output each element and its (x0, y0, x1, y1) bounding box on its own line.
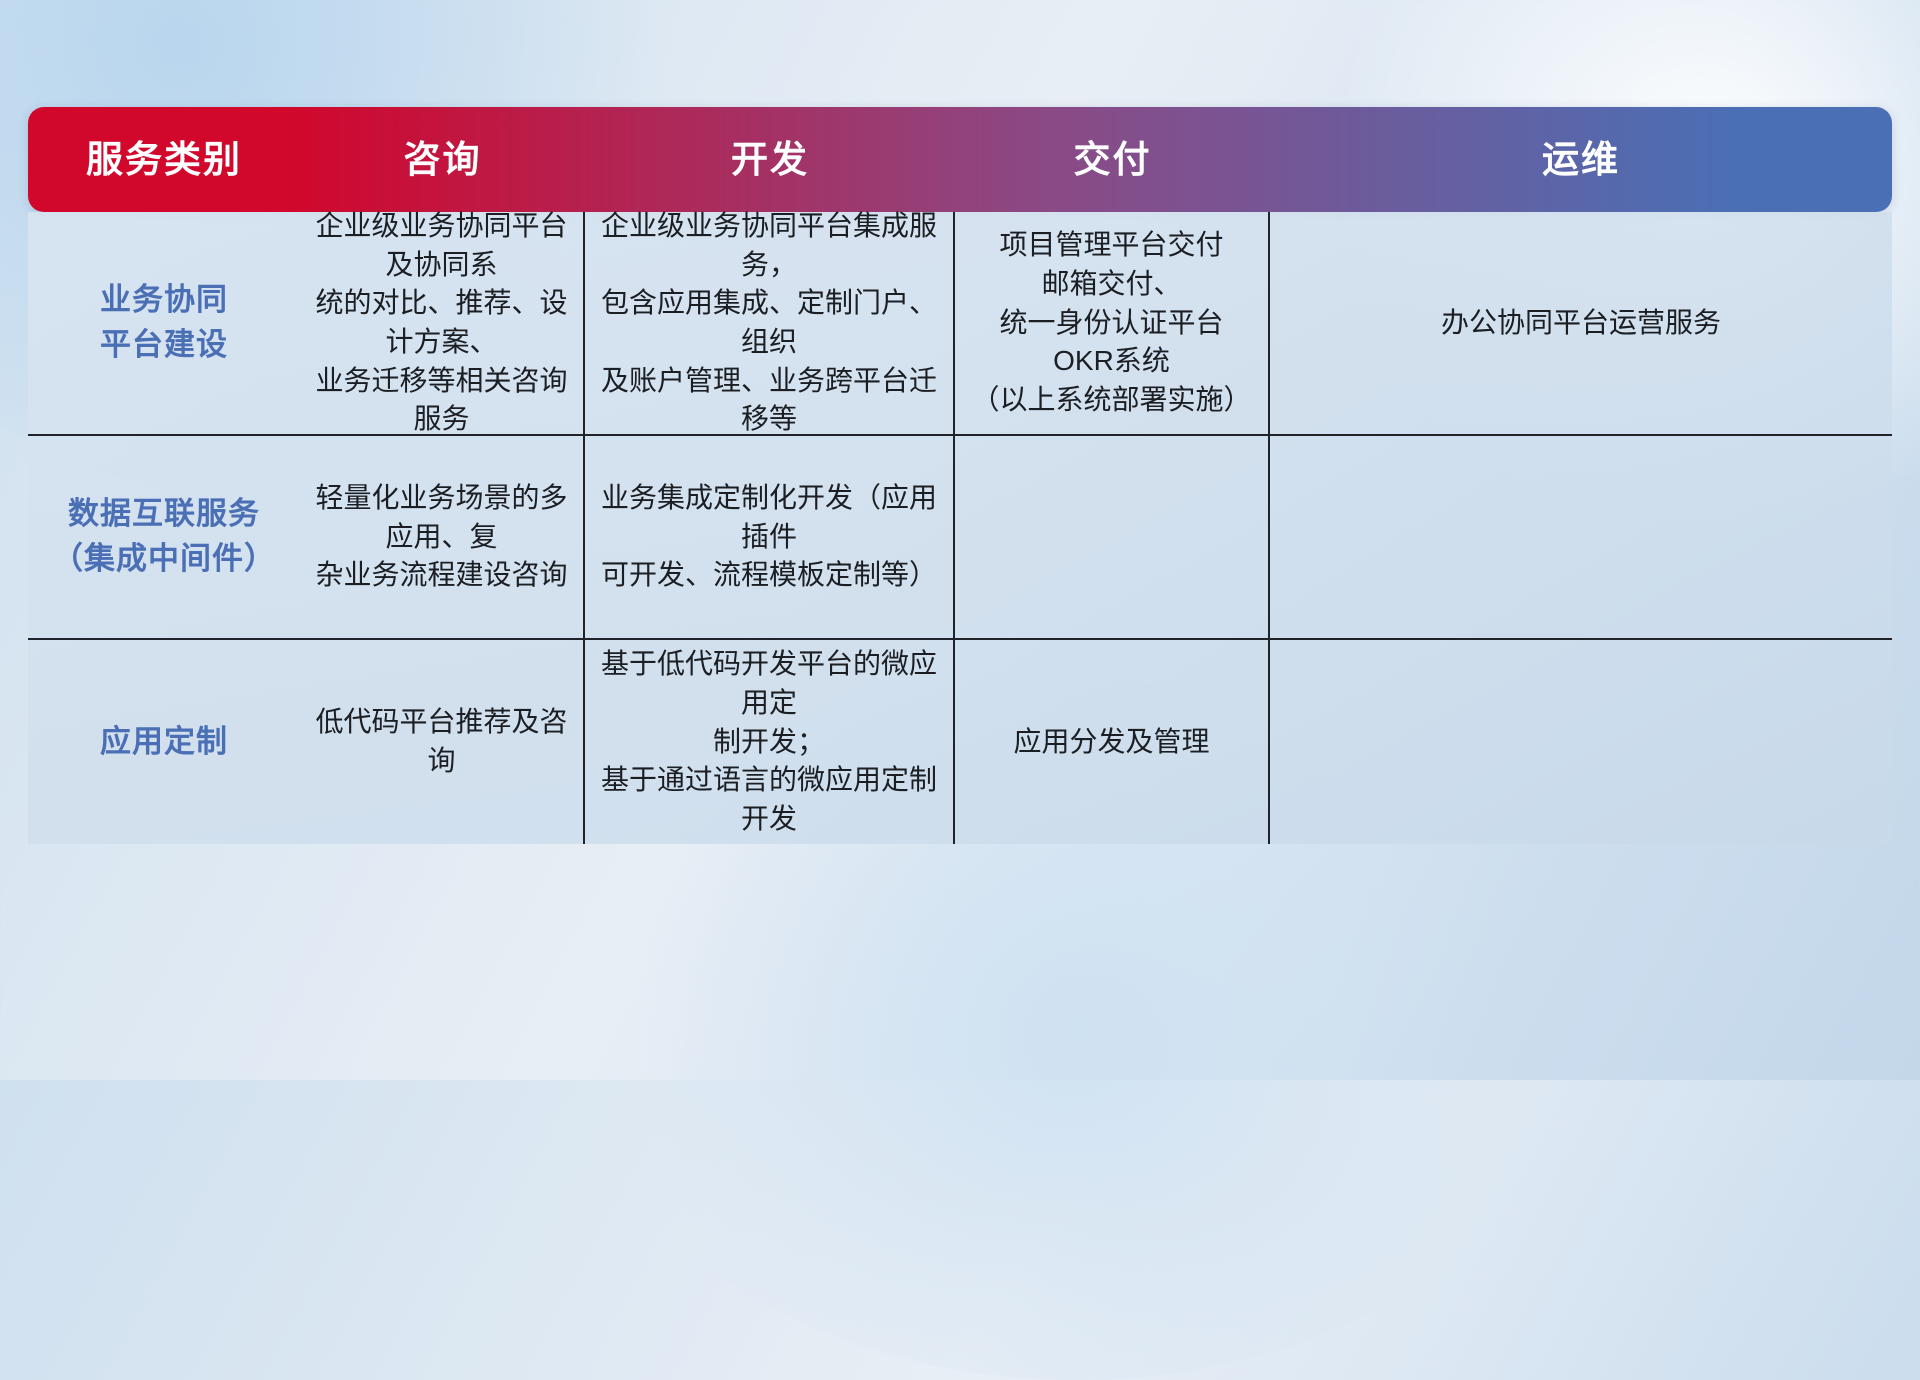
cell-consulting: 低代码平台推荐及咨询 (300, 640, 585, 844)
cell-delivery: 项目管理平台交付 邮箱交付、 统一身份认证平台 OKR系统 （以上系统部署实施） (955, 212, 1270, 434)
table-row: 应用定制 低代码平台推荐及咨询 基于低代码开发平台的微应用定 制开发； 基于通过… (28, 638, 1892, 844)
table-header-consulting: 咨询 (300, 141, 585, 178)
table-row: 业务协同 平台建设 企业级业务协同平台及协同系 统的对比、推荐、设计方案、 业务… (28, 212, 1892, 434)
table-header-operations: 运维 (1270, 141, 1892, 178)
table-header-service-category: 服务类别 (28, 141, 300, 178)
row-category-label: 应用定制 (28, 640, 300, 844)
table-body: 业务协同 平台建设 企业级业务协同平台及协同系 统的对比、推荐、设计方案、 业务… (28, 212, 1892, 844)
row-category-label: 数据互联服务 （集成中间件） (28, 436, 300, 638)
cell-operations: 办公协同平台运营服务 (1270, 212, 1892, 434)
table-header-development: 开发 (585, 141, 955, 178)
table-row: 数据互联服务 （集成中间件） 轻量化业务场景的多应用、复 杂业务流程建设咨询 业… (28, 434, 1892, 638)
cell-delivery: 应用分发及管理 (955, 640, 1270, 844)
cell-development: 基于低代码开发平台的微应用定 制开发； 基于通过语言的微应用定制开发 (585, 640, 955, 844)
cell-operations (1270, 436, 1892, 638)
cell-development: 业务集成定制化开发（应用插件 可开发、流程模板定制等） (585, 436, 955, 638)
cell-development: 企业级业务协同平台集成服务， 包含应用集成、定制门户、组织 及账户管理、业务跨平… (585, 212, 955, 434)
table-header-row: 服务类别 咨询 开发 交付 运维 (28, 107, 1892, 212)
table-header-delivery: 交付 (955, 141, 1270, 178)
cell-delivery (955, 436, 1270, 638)
service-matrix-table: 服务类别 咨询 开发 交付 运维 业务协同 平台建设 企业级业务协同平台及协同系… (28, 107, 1892, 844)
cell-operations (1270, 640, 1892, 844)
cell-consulting: 企业级业务协同平台及协同系 统的对比、推荐、设计方案、 业务迁移等相关咨询服务 (300, 212, 585, 434)
row-category-label: 业务协同 平台建设 (28, 212, 300, 434)
cell-consulting: 轻量化业务场景的多应用、复 杂业务流程建设咨询 (300, 436, 585, 638)
